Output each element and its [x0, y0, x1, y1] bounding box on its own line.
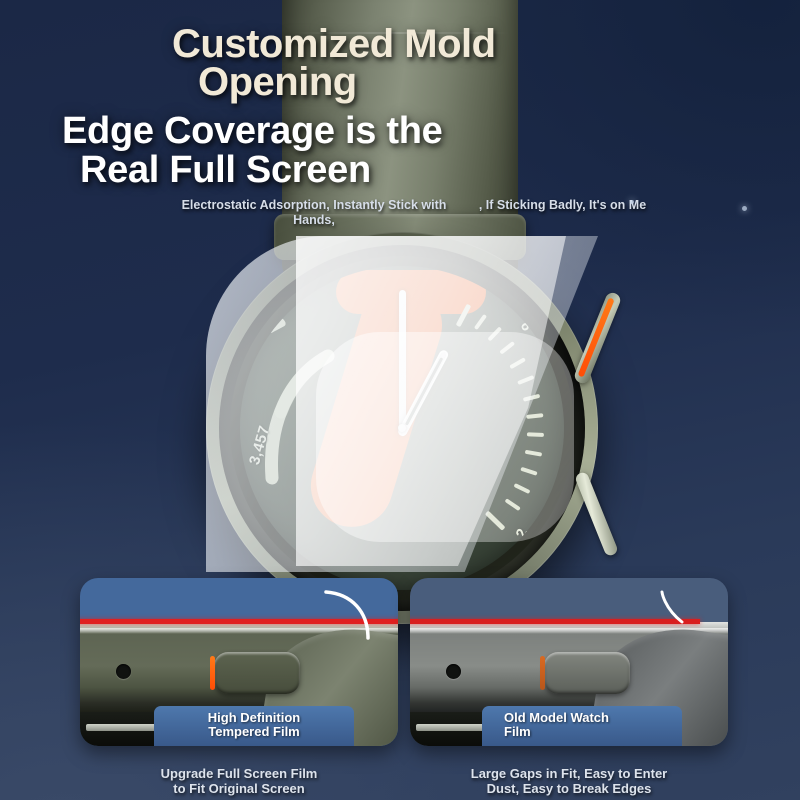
minute-hand — [399, 290, 406, 430]
bottom-right-button[interactable] — [574, 471, 619, 557]
side-button — [544, 652, 630, 694]
badge-line2: Tempered Film — [208, 724, 300, 739]
caption-line1: Upgrade Full Screen Film — [161, 766, 318, 781]
side-button — [214, 652, 300, 694]
arc-swoosh-icon — [648, 588, 706, 646]
product-poster: 3,457 6 2 — [0, 0, 800, 800]
headline-secondary-line2: Real Full Screen — [62, 151, 622, 190]
headline-secondary: Edge Coverage is the Real Full Screen — [62, 112, 622, 190]
caption-line2: to Fit Original Screen — [173, 781, 304, 796]
microphone-hole — [116, 664, 131, 679]
sparkle-decoration — [742, 206, 747, 211]
microphone-hole — [446, 664, 461, 679]
arc-swoosh-icon — [318, 588, 376, 646]
caption-line1: Large Gaps in Fit, Easy to Enter — [471, 766, 668, 781]
status-badge-new: High Definition Tempered Film — [154, 706, 354, 746]
headline-primary-line2: Opening — [172, 64, 652, 102]
headline-secondary-line1: Edge Coverage is the — [62, 110, 442, 152]
badge-line1: High Definition — [208, 710, 300, 725]
comparison-panel-old: Old Model Watch Film — [410, 578, 728, 746]
sparkle-decoration — [630, 200, 634, 204]
caption-line2: Dust, Easy to Break Edges — [487, 781, 652, 796]
caption-old: Large Gaps in Fit, Easy to Enter Dust, E… — [404, 766, 734, 796]
status-badge-old: Old Model Watch Film — [482, 706, 682, 746]
hands-hub — [398, 424, 406, 432]
badge-line1: Old Model Watch — [504, 710, 609, 725]
smartwatch: 3,457 6 2 — [206, 232, 598, 624]
page-title: Customized Mold Opening — [172, 26, 652, 101]
caption-new: Upgrade Full Screen Film to Fit Original… — [74, 766, 404, 796]
comparison-panel-new: High Definition Tempered Film — [80, 578, 398, 746]
subtitle-left: Electrostatic Adsorption, Instantly Stic… — [164, 198, 464, 228]
subtitle-right: , If Sticking Badly, It's on Me — [470, 198, 655, 213]
watch-dial: 3,457 6 2 — [240, 266, 564, 590]
top-right-button[interactable] — [573, 291, 623, 386]
badge-line2: Film — [504, 724, 531, 739]
